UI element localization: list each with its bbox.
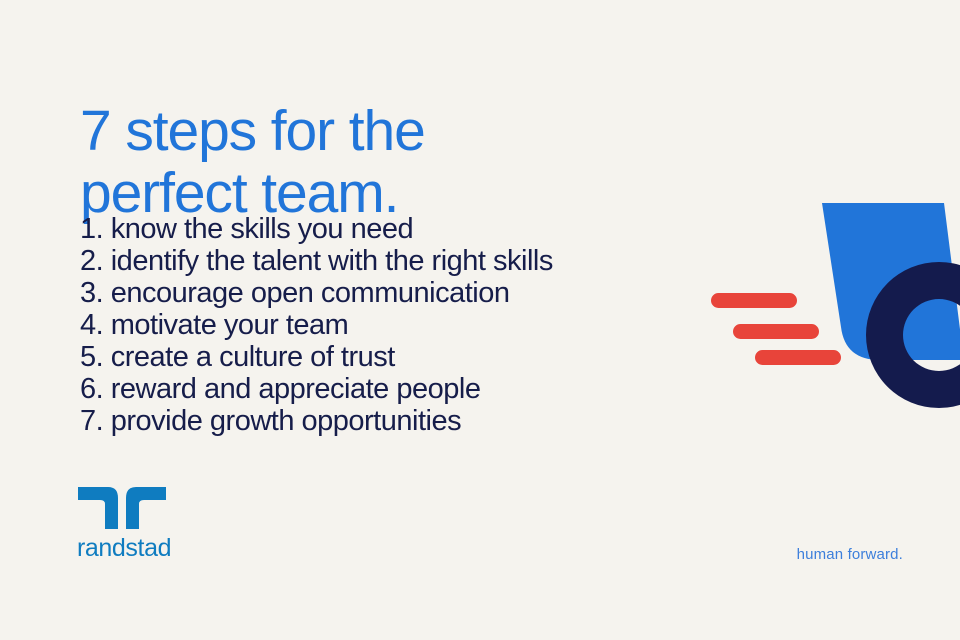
navy-ring <box>866 262 960 408</box>
red-bar-1 <box>711 293 797 308</box>
step-text: 7. provide growth opportunities <box>80 405 461 437</box>
red-bar-3 <box>755 350 841 365</box>
list-item: 7. provide growth opportunities <box>80 405 553 437</box>
list-item: 5. create a culture of trust <box>80 341 553 373</box>
list-item: 3. encourage open communication <box>80 277 553 309</box>
step-text: 4. motivate your team <box>80 309 348 341</box>
blue-tapered-shape <box>822 203 960 360</box>
step-text: 2. identify the talent with the right sk… <box>80 245 553 277</box>
list-item: 6. reward and appreciate people <box>80 373 553 405</box>
step-text: 5. create a culture of trust <box>80 341 395 373</box>
brand-logo: randstad <box>78 487 171 561</box>
list-item: 2. identify the talent with the right sk… <box>80 245 553 277</box>
list-item: 1. know the skills you need <box>80 213 553 245</box>
step-text: 3. encourage open communication <box>80 277 509 309</box>
poster-canvas: 7 steps for the perfect team. 1. know th… <box>0 0 960 640</box>
red-bar-2 <box>733 324 819 339</box>
steps-list: 1. know the skills you need 2. identify … <box>80 213 553 437</box>
brand-tagline: human forward. <box>797 546 903 564</box>
page-title: 7 steps for the perfect team. <box>80 100 680 224</box>
list-item: 4. motivate your team <box>80 309 553 341</box>
step-text: 1. know the skills you need <box>80 213 413 245</box>
randstad-wordmark: randstad <box>77 536 171 561</box>
step-text: 6. reward and appreciate people <box>80 373 480 405</box>
randstad-trident-icon <box>78 487 166 529</box>
